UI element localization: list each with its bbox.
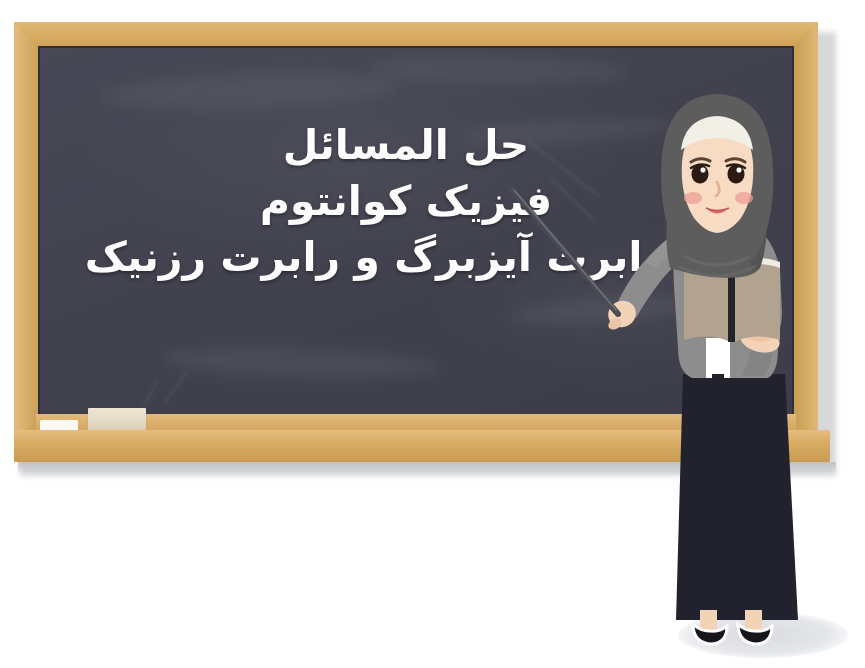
teacher-eye-highlight-left bbox=[700, 167, 705, 172]
teacher-cheek-left bbox=[684, 192, 702, 204]
teacher-belt-gap bbox=[712, 374, 724, 392]
chalk-smudge bbox=[160, 343, 441, 383]
chalk-streak bbox=[143, 379, 159, 406]
eraser[interactable] bbox=[88, 408, 146, 430]
frame-edge-left bbox=[14, 22, 40, 442]
chalk-smudge bbox=[370, 54, 630, 87]
chalk-streak bbox=[164, 370, 189, 404]
teacher-eye-highlight-right bbox=[736, 167, 741, 172]
teacher-skirt bbox=[676, 374, 798, 620]
frame-edge-top bbox=[14, 22, 818, 48]
chalk-smudge bbox=[99, 69, 400, 113]
teacher-shirt-hem bbox=[706, 338, 730, 378]
teacher-cheek-right bbox=[735, 192, 753, 204]
illustration-canvas: حل المسائل فیزیک کوانتوم رابرت آیزبرگ و … bbox=[0, 0, 865, 668]
teacher-figure bbox=[560, 86, 860, 656]
